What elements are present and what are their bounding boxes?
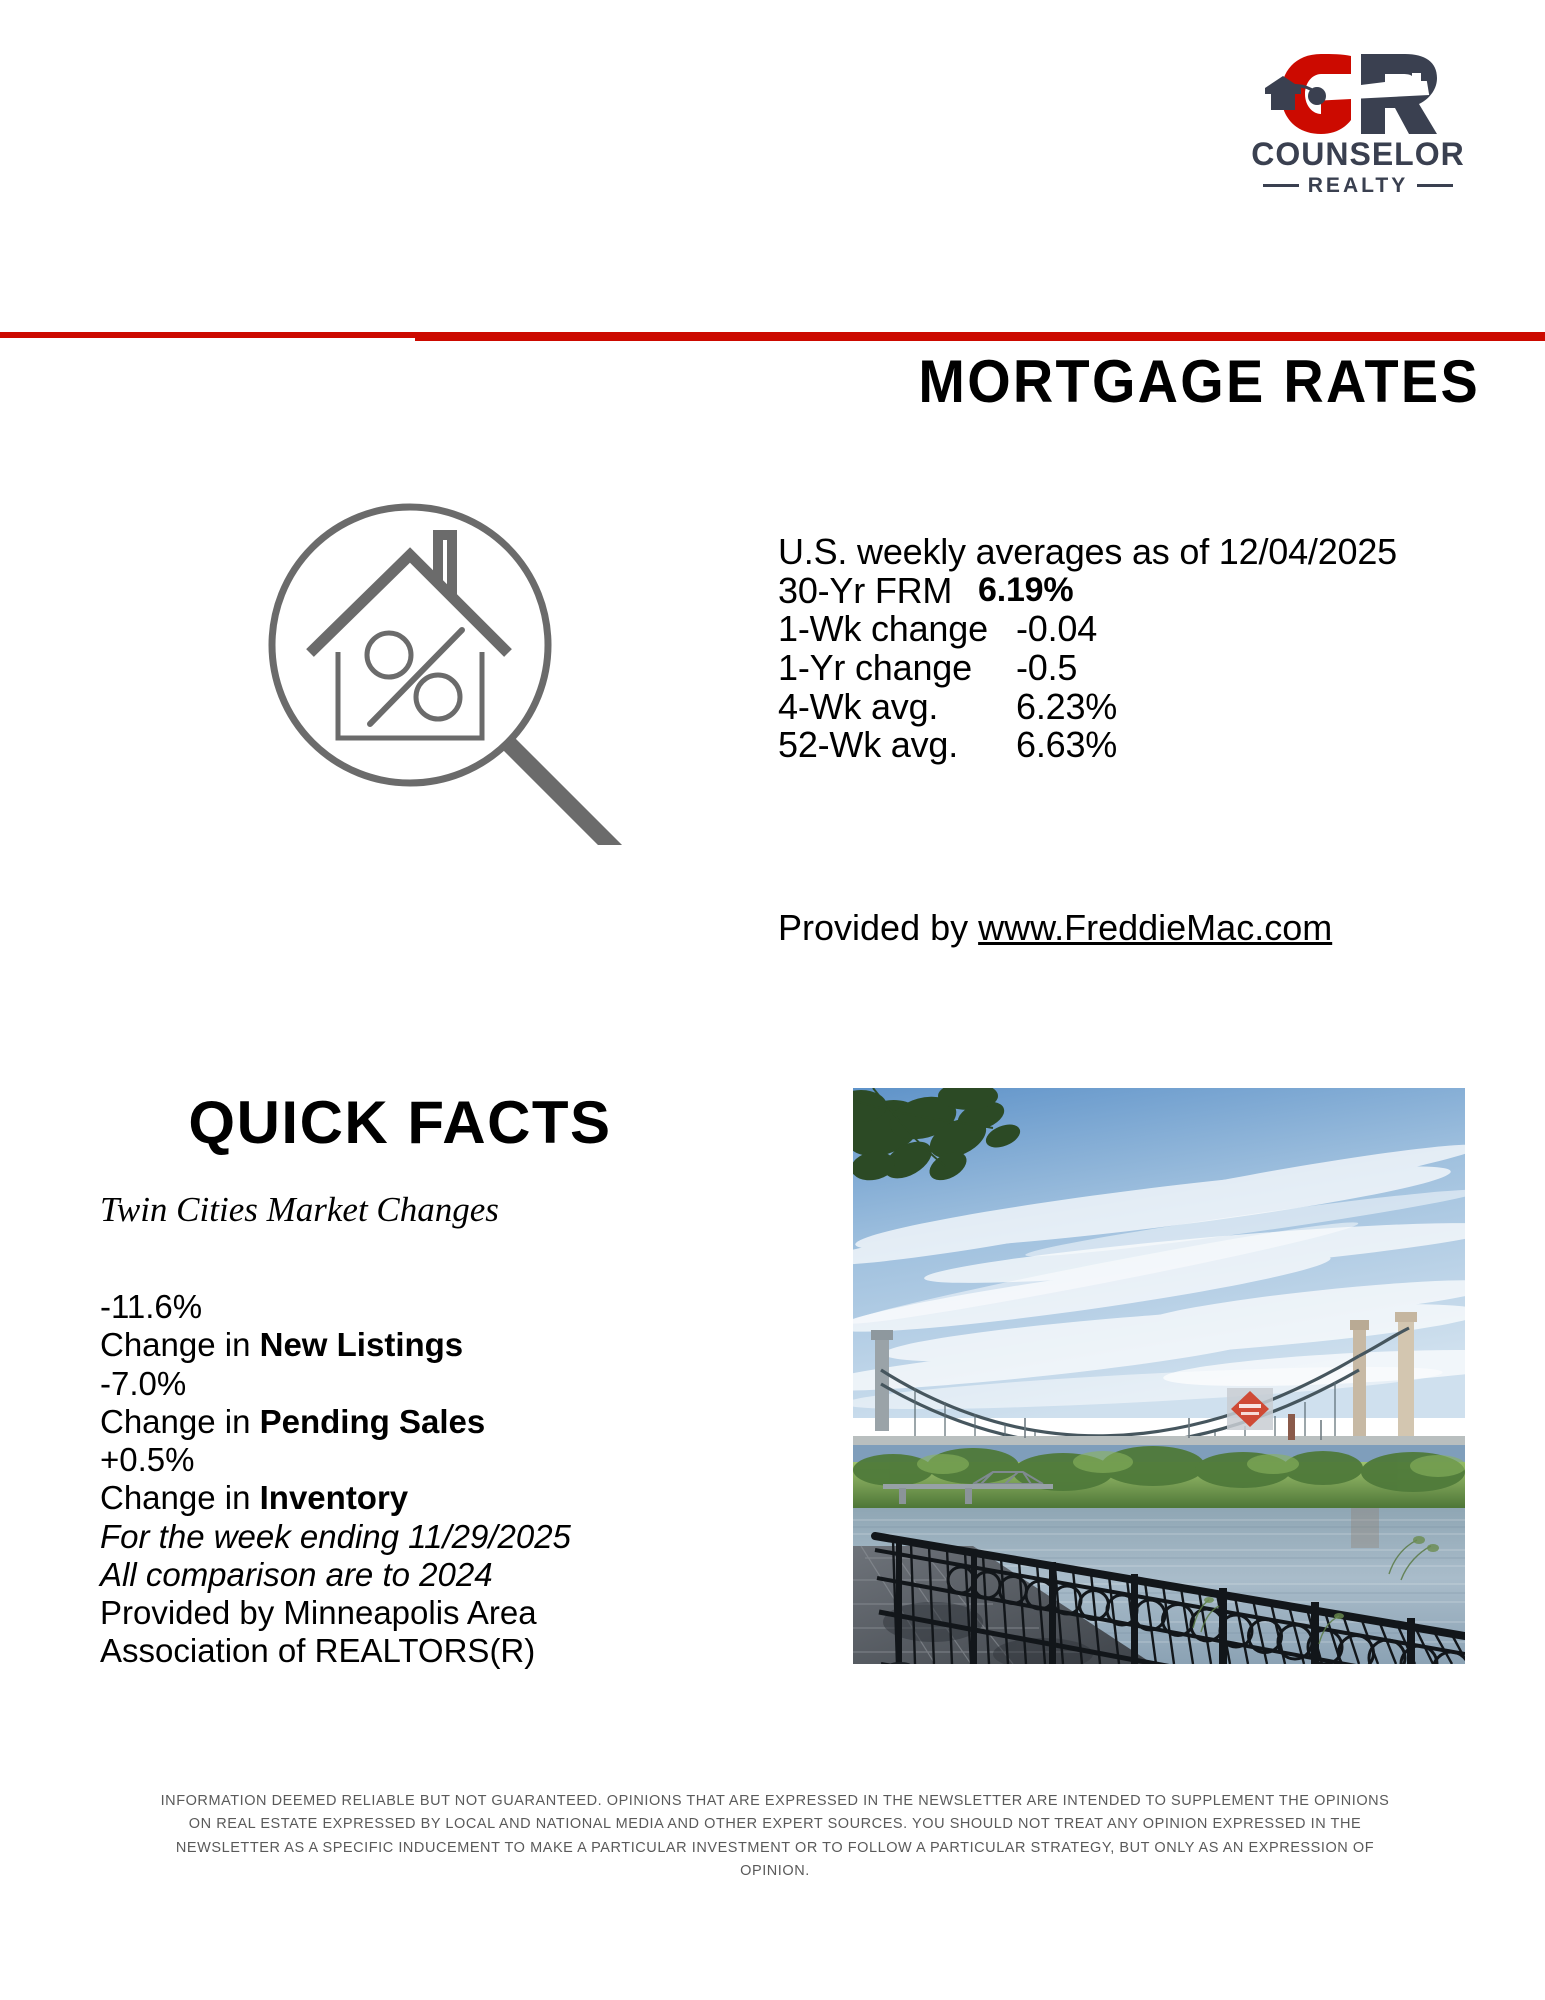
fact-note-week-ending: For the week ending 11/29/2025: [100, 1518, 720, 1556]
fact-value-new-listings: -11.6%: [100, 1288, 720, 1326]
header-divider: [0, 330, 1545, 344]
rate-label: 1-Wk change: [778, 610, 1016, 649]
fact-label-new-listings: Change in New Listings: [100, 1326, 720, 1364]
freddiemac-link[interactable]: www.FreddieMac.com: [978, 907, 1332, 948]
fact-metric: Inventory: [260, 1479, 409, 1516]
rate-value: 6.63%: [1016, 726, 1117, 765]
fact-prefix: Change in: [100, 1479, 260, 1516]
disclaimer-text: INFORMATION DEEMED RELIABLE BUT NOT GUAR…: [150, 1790, 1400, 1884]
logo-counselor-text: COUNSELOR: [1243, 138, 1473, 170]
quick-facts-list: -11.6% Change in New Listings -7.0% Chan…: [100, 1288, 720, 1671]
logo-realty-row: REALTY: [1243, 175, 1473, 196]
rate-row-4wk-avg: 4-Wk avg. 6.23%: [778, 688, 1478, 727]
mortgage-rates-table: U.S. weekly averages as of 12/04/2025 30…: [778, 533, 1478, 765]
logo-rule-right: [1417, 184, 1453, 187]
fact-value-inventory: +0.5%: [100, 1441, 720, 1479]
house-percent-magnifier-icon: [250, 485, 650, 845]
rate-label: 30-Yr FRM: [778, 572, 978, 611]
fact-metric: New Listings: [260, 1326, 464, 1363]
quick-facts-heading: QUICK FACTS: [100, 1088, 700, 1157]
fact-prefix: Change in: [100, 1403, 260, 1440]
rate-value: -0.5: [1016, 649, 1077, 688]
divider-thick-rule: [415, 332, 1545, 341]
rate-value: -0.04: [1016, 610, 1097, 649]
fact-provider-line-2: Association of REALTORS(R): [100, 1632, 720, 1670]
fact-label-pending-sales: Change in Pending Sales: [100, 1403, 720, 1441]
provided-by-label: Provided by: [778, 907, 978, 948]
rates-as-of-label: U.S. weekly averages as of 12/04/2025: [778, 533, 1478, 572]
freddiemac-attribution: Provided by www.FreddieMac.com: [778, 907, 1332, 949]
rate-value: 6.19%: [978, 572, 1073, 611]
logo-rule-left: [1263, 184, 1299, 187]
rate-label: 1-Yr change: [778, 649, 1016, 688]
fact-note-comparison: All comparison are to 2024: [100, 1556, 720, 1594]
fact-label-inventory: Change in Inventory: [100, 1479, 720, 1517]
rate-row-1yr-change: 1-Yr change -0.5: [778, 649, 1478, 688]
rate-row-30yr-frm: 30-Yr FRM 6.19%: [778, 572, 1478, 611]
rate-row-52wk-avg: 52-Wk avg. 6.63%: [778, 726, 1478, 765]
rate-value: 6.23%: [1016, 688, 1117, 727]
mortgage-rates-heading: MORTGAGE RATES: [829, 350, 1480, 413]
cr-monogram-icon: [1243, 48, 1473, 140]
rate-label: 52-Wk avg.: [778, 726, 1016, 765]
rate-label: 4-Wk avg.: [778, 688, 1016, 727]
fact-metric: Pending Sales: [260, 1403, 486, 1440]
fact-provider-line-1: Provided by Minneapolis Area: [100, 1594, 720, 1632]
fact-value-pending-sales: -7.0%: [100, 1365, 720, 1403]
quick-facts-subtitle: Twin Cities Market Changes: [100, 1190, 499, 1230]
brand-logo: COUNSELOR REALTY: [1243, 48, 1473, 196]
rate-row-1wk-change: 1-Wk change -0.04: [778, 610, 1478, 649]
fact-prefix: Change in: [100, 1326, 260, 1363]
logo-realty-text: REALTY: [1308, 175, 1408, 196]
hennepin-avenue-bridge-riverwalk-photo: [853, 1088, 1465, 1664]
